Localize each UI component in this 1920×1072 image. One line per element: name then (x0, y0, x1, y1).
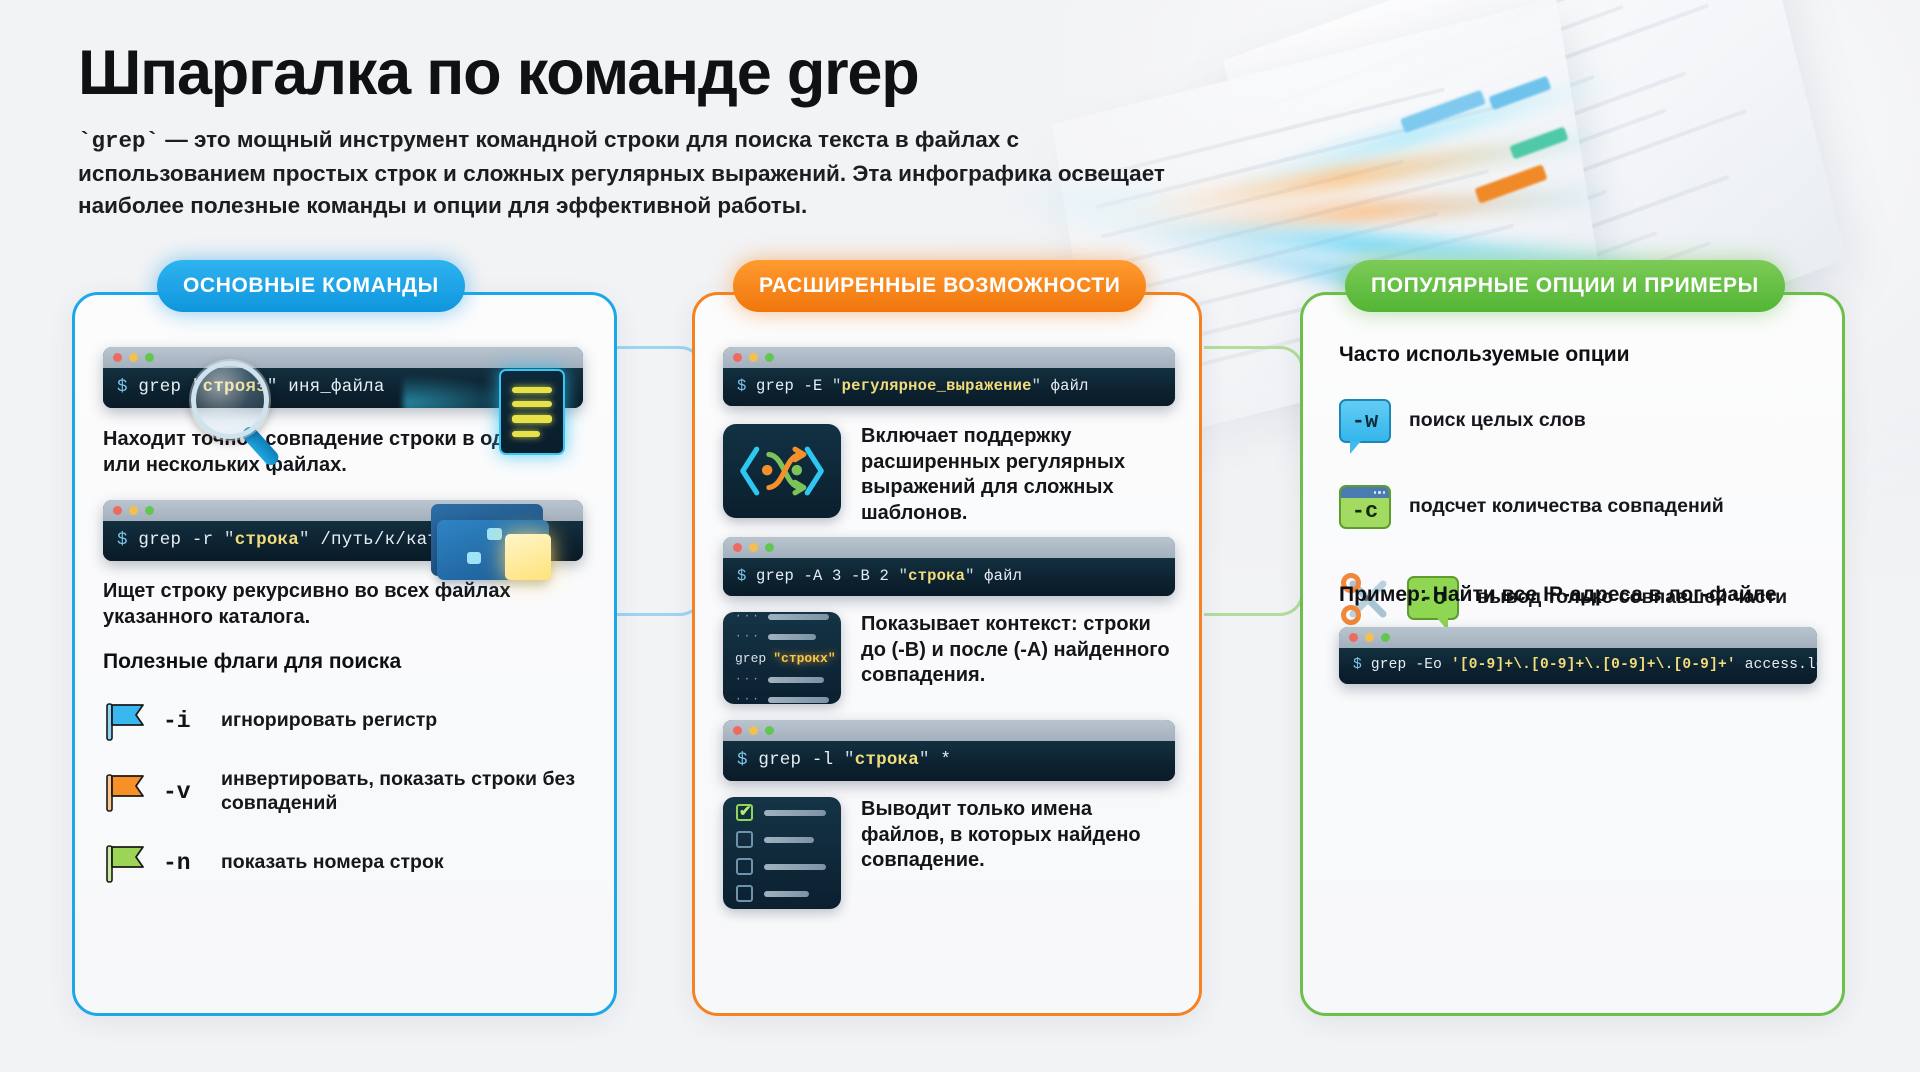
flag-row-ignore-case: -i игнорировать регистр (103, 700, 583, 742)
command-search-string: строяз (203, 377, 267, 397)
option-code: -c (1352, 499, 1378, 524)
minimize-dot-icon[interactable] (1365, 633, 1374, 642)
block-description: Включает поддержку расширенных регулярны… (861, 424, 1175, 526)
prompt-symbol: $ (117, 530, 128, 550)
command-text: grep -Eo (1371, 657, 1451, 673)
block-body: Выводит только имена файлов, в которых н… (723, 797, 1175, 909)
command-text: grep -E (756, 377, 832, 395)
quote-close: " (1032, 377, 1042, 395)
speech-bubble-blue-icon: -w (1339, 399, 1391, 443)
regex-icon (723, 424, 841, 518)
context-icon-text: grep (735, 651, 766, 666)
terminal-titlebar (723, 720, 1175, 741)
page-title: Шпаргалка по команде grep (78, 40, 1208, 106)
column-basic-commands: ОСНОВНЫЕ КОМАНДЫ $ grep "строяз" иня_фай… (72, 292, 617, 1016)
command-search-string: строка (908, 567, 965, 585)
context-icon-highlight: "строкх" (773, 651, 835, 666)
flag-description: игнорировать регистр (221, 709, 437, 733)
window-titlebar-icon (1341, 487, 1389, 498)
command-block-recursive: $ grep -r "строка" /путь/к/каталогу/ Ище… (103, 500, 583, 630)
close-dot-icon[interactable] (113, 506, 122, 515)
command-block-context: $ grep -A 3 -B 2 "строка" файл ··· ··· g… (723, 537, 1175, 704)
quote-open: " (844, 750, 855, 770)
terminal-window: $ grep -l "строка" * (723, 720, 1175, 781)
flag-row-invert: -v инвертировать, показать строки без со… (103, 768, 583, 816)
maximize-dot-icon[interactable] (145, 353, 154, 362)
command-search-string: регулярное_выражение (842, 377, 1032, 395)
useful-flags-section: Полезные флаги для поиска -i игнорироват… (103, 650, 583, 884)
example-heading: Пример: Найти все IP-адреса в лог-файле (1339, 583, 1817, 607)
block-body: ··· ··· grep "строкх" ··· ··· Показывает… (723, 612, 1175, 704)
prompt-symbol: $ (737, 750, 748, 770)
maximize-dot-icon[interactable] (145, 506, 154, 515)
command-target: файл (975, 567, 1023, 585)
minimize-dot-icon[interactable] (749, 353, 758, 362)
subtitle-text: — это мощный инструмент командной строки… (78, 127, 1165, 218)
command-text: grep -r (138, 530, 224, 550)
column-badge-popular: ПОПУЛЯРНЫЕ ОПЦИИ И ПРИМЕРЫ (1345, 260, 1785, 312)
command-search-string: строка (855, 750, 919, 770)
minimize-dot-icon[interactable] (749, 543, 758, 552)
prompt-symbol: $ (737, 377, 747, 395)
minimize-dot-icon[interactable] (749, 726, 758, 735)
column-badge-basic: ОСНОВНЫЕ КОМАНДЫ (157, 260, 465, 312)
subtitle-code: `grep` (78, 128, 159, 154)
block-description: Выводит только имена файлов, в которых н… (861, 797, 1175, 874)
terminal-titlebar (723, 537, 1175, 558)
terminal-titlebar (103, 347, 583, 368)
connector-blue (608, 346, 704, 616)
command-text: grep -A 3 -B 2 (756, 567, 899, 585)
option-description: подсчет количества совпадений (1409, 495, 1724, 519)
terminal-window: $ grep -A 3 -B 2 "строка" файл (723, 537, 1175, 596)
flag-orange-icon (103, 771, 149, 813)
option-row-count: -c подсчет количества совпадений (1339, 485, 1817, 529)
command-block-filenames-only: $ grep -l "строка" * Выводит только имен… (723, 720, 1175, 909)
flag-code: -n (163, 850, 207, 876)
terminal-window: $ grep -E "регулярное_выражение" файл (723, 347, 1175, 406)
quote-open: " (192, 377, 203, 397)
maximize-dot-icon[interactable] (765, 726, 774, 735)
command-regex-pattern: '[0-9]+\.[0-9]+\.[0-9]+\.[0-9]+' (1451, 657, 1736, 673)
close-dot-icon[interactable] (1349, 633, 1358, 642)
quote-open: " (832, 377, 842, 395)
block-description: Показывает контекст: строки до (-B) и по… (861, 612, 1175, 689)
flag-code: -v (163, 779, 207, 805)
example-section: Пример: Найти все IP-адреса в лог-файле … (1339, 583, 1817, 684)
terminal-command-line: $ grep -E "регулярное_выражение" файл (723, 368, 1175, 406)
flag-description: инвертировать, показать строки без совпа… (221, 768, 583, 816)
maximize-dot-icon[interactable] (765, 353, 774, 362)
minimize-dot-icon[interactable] (129, 353, 138, 362)
command-search-string: строка (235, 530, 299, 550)
flag-green-icon (103, 842, 149, 884)
prompt-symbol: $ (1353, 657, 1362, 673)
option-description: поиск целых слов (1409, 409, 1586, 433)
column-popular-options: ПОПУЛЯРНЫЕ ОПЦИИ И ПРИМЕРЫ Часто использ… (1300, 292, 1845, 1016)
option-code: -w (1352, 409, 1378, 434)
block-body: Включает поддержку расширенных регулярны… (723, 424, 1175, 526)
close-dot-icon[interactable] (113, 353, 122, 362)
options-heading: Часто используемые опции (1339, 343, 1817, 367)
quote-close: " (965, 567, 975, 585)
flags-heading: Полезные флаги для поиска (103, 650, 583, 674)
maximize-dot-icon[interactable] (765, 543, 774, 552)
terminal-window-example: $ grep -Eo '[0-9]+\.[0-9]+\.[0-9]+\.[0-9… (1339, 627, 1817, 684)
context-lines-icon: ··· ··· grep "строкх" ··· ··· (723, 612, 841, 704)
quote-open: " (899, 567, 909, 585)
terminal-titlebar (723, 347, 1175, 368)
command-text: grep -l (758, 750, 844, 770)
quote-close: " (267, 377, 278, 397)
option-row-whole-words: -w поиск целых слов (1339, 399, 1817, 443)
flag-code: -i (163, 708, 207, 734)
document-icon (499, 369, 565, 455)
quote-open: " (224, 530, 235, 550)
quote-close: " (919, 750, 930, 770)
checklist-icon (723, 797, 841, 909)
page-subtitle: `grep` — это мощный инструмент командной… (78, 124, 1168, 222)
terminal-titlebar (1339, 627, 1817, 648)
command-target: access.log (1736, 657, 1817, 673)
terminal-command-line: $ grep -Eo '[0-9]+\.[0-9]+\.[0-9]+\.[0-9… (1339, 648, 1817, 684)
connector-green (1204, 346, 1304, 616)
minimize-dot-icon[interactable] (129, 506, 138, 515)
quote-close: " (299, 530, 310, 550)
command-block-extended-regex: $ grep -E "регулярное_выражение" файл (723, 347, 1175, 526)
maximize-dot-icon[interactable] (1381, 633, 1390, 642)
header: Шпаргалка по команде grep `grep` — это м… (78, 40, 1208, 222)
folder-highlight-icon (505, 534, 551, 580)
window-green-icon: -c (1339, 485, 1391, 529)
flag-blue-icon (103, 700, 149, 742)
infographic-page: Шпаргалка по команде grep `grep` — это м… (0, 0, 1920, 1072)
command-target: файл (1041, 377, 1089, 395)
flag-row-line-numbers: -n показать номера строк (103, 842, 583, 884)
close-dot-icon[interactable] (733, 726, 742, 735)
flag-description: показать номера строк (221, 851, 444, 875)
command-target: * (930, 750, 951, 770)
column-badge-advanced: РАСШИРЕННЫЕ ВОЗМОЖНОСТИ (733, 260, 1146, 312)
command-block-exact-match: $ grep "строяз" иня_файла Находит точное… (103, 347, 583, 478)
close-dot-icon[interactable] (733, 353, 742, 362)
column-advanced-features: РАСШИРЕННЫЕ ВОЗМОЖНОСТИ $ grep -E "регул… (692, 292, 1202, 1016)
prompt-symbol: $ (737, 567, 747, 585)
close-dot-icon[interactable] (733, 543, 742, 552)
folder-tree-icon (431, 494, 561, 590)
terminal-command-line: $ grep -A 3 -B 2 "строка" файл (723, 558, 1175, 596)
command-text: grep (138, 377, 192, 397)
prompt-symbol: $ (117, 377, 128, 397)
terminal-command-line: $ grep -l "строка" * (723, 741, 1175, 781)
command-target: иня_файла (278, 377, 385, 397)
